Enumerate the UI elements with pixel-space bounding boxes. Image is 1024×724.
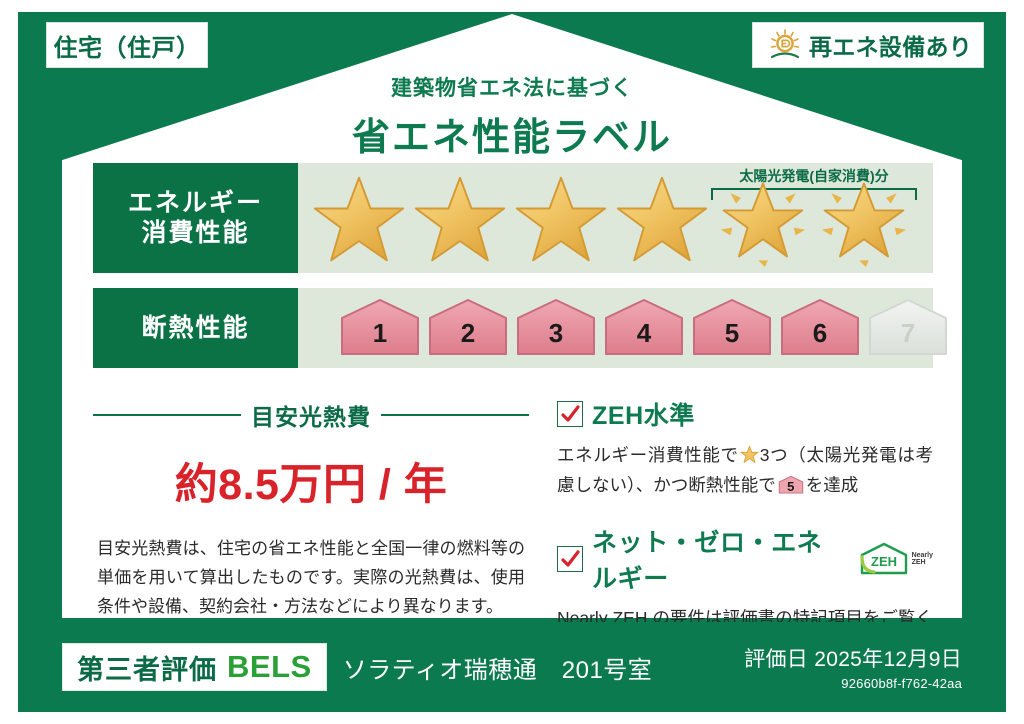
bels-certification-chip: 第三者評価 BELS (62, 643, 327, 691)
insulation-performance-label-box: 断熱性能 (93, 288, 298, 368)
insulation-performance-row: 断熱性能 1 2 3 (93, 288, 933, 368)
insulation-level-number: 5 (690, 320, 774, 346)
energy-performance-label: 住宅（住戸） 再エネ設備あり 建築 (0, 0, 1024, 724)
zeh-standard-title: ZEH水準 (592, 396, 695, 432)
star-icon (740, 443, 759, 462)
utility-cost-value: 約8.5万円 / 年 (93, 450, 529, 512)
energy-label-line2: 消費性能 (141, 218, 249, 249)
renewable-equipment-label: 再エネ設備あり (809, 28, 972, 62)
zeh-sub-line1: Nearly (912, 552, 933, 559)
insulation-level-item: 1 (338, 298, 422, 358)
insulation-level-5-number: 5 (778, 480, 804, 493)
insulation-level-number: 1 (338, 320, 422, 346)
insulation-level-scale: 1 2 3 4 5 (338, 298, 950, 358)
insulation-label: 断熱性能 (141, 313, 249, 344)
zeh-logo: ZEH Nearly ZEH (858, 541, 933, 577)
energy-label-line1: エネルギー (128, 188, 263, 219)
heading-rule-left (93, 414, 241, 416)
insulation-level-number: 2 (426, 320, 510, 346)
insulation-level-5-icon: 5 (778, 475, 804, 495)
zeh-standard-body: エネルギー消費性能で3つ（太陽光発電は考慮しない）、かつ断熱性能で5を達成 (557, 440, 933, 501)
label-footer: 第三者評価 BELS ソラティオ瑞穂通 201号室 評価日 2025年12月9日… (18, 622, 1006, 712)
bels-en-label: BELS (227, 649, 312, 685)
zeh-body-part1: エネルギー消費性能で (557, 445, 739, 465)
performance-rows: エネルギー 消費性能 太陽光発電(自家消費)分 (93, 163, 933, 368)
zeh-standard-checkbox (557, 401, 583, 427)
star-item (308, 169, 409, 271)
evaluation-id: 92660b8f-f762-42aa (744, 676, 962, 691)
insulation-level-item: 4 (602, 298, 686, 358)
insulation-level-number: 6 (778, 320, 862, 346)
insulation-level-number: 4 (602, 320, 686, 346)
zeh-sub-line2: ZEH (912, 559, 926, 566)
insulation-level-number: 7 (866, 320, 950, 346)
renewable-equipment-badge: 再エネ設備あり (752, 22, 984, 68)
insulation-rating-area: 1 2 3 4 5 (298, 288, 933, 368)
property-name: ソラティオ瑞穂通 201号室 (343, 650, 653, 685)
insulation-level-item: 2 (426, 298, 510, 358)
svg-text:ZEH: ZEH (871, 554, 897, 569)
label-main-title: 省エネ性能ラベル (0, 106, 1024, 161)
label-title-block: 建築物省エネ法に基づく 省エネ性能ラベル (0, 72, 1024, 161)
zeh-standard-block: ZEH水準 エネルギー消費性能で3つ（太陽光発電は考慮しない）、かつ断熱性能で5… (557, 396, 933, 501)
star-item-solar (813, 169, 914, 271)
star-item-solar (712, 169, 813, 271)
bels-jp-label: 第三者評価 (77, 648, 217, 687)
utility-cost-note: 目安光熱費は、住宅の省エネ性能と全国一律の燃料等の単価を用いて算出したものです。… (93, 534, 529, 622)
dwelling-type-tag: 住宅（住戸） (46, 22, 208, 68)
net-zero-energy-checkbox (557, 546, 583, 572)
energy-star-rating (308, 169, 914, 271)
star-item (510, 169, 611, 271)
insulation-level-item: 3 (514, 298, 598, 358)
utility-cost-heading: 目安光熱費 (93, 398, 529, 432)
energy-performance-label-box: エネルギー 消費性能 (93, 163, 298, 273)
zeh-logo-sublabel: Nearly ZEH (912, 552, 933, 567)
star-item (409, 169, 510, 271)
label-subtitle: 建築物省エネ法に基づく (0, 72, 1024, 102)
solar-sun-icon (767, 28, 803, 62)
zeh-body-part3: を達成 (806, 475, 859, 495)
zeh-standard-heading: ZEH水準 (557, 396, 933, 432)
insulation-level-item: 5 (690, 298, 774, 358)
evaluation-info: 評価日 2025年12月9日 92660b8f-f762-42aa (744, 643, 962, 691)
energy-performance-row: エネルギー 消費性能 太陽光発電(自家消費)分 (93, 163, 933, 273)
insulation-level-item: 6 (778, 298, 862, 358)
net-zero-energy-heading: ネット・ゼロ・エネルギー ZEH Nearly ZEH (557, 523, 933, 595)
utility-cost-title: 目安光熱費 (251, 398, 371, 432)
insulation-level-item-inactive: 7 (866, 298, 950, 358)
net-zero-energy-title: ネット・ゼロ・エネルギー (592, 523, 844, 595)
energy-rating-area: 太陽光発電(自家消費)分 (298, 163, 933, 273)
dwelling-type-label: 住宅（住戸） (54, 28, 201, 63)
evaluation-date: 評価日 2025年12月9日 (744, 643, 962, 673)
insulation-level-number: 3 (514, 320, 598, 346)
star-item (611, 169, 712, 271)
heading-rule-right (381, 414, 529, 416)
